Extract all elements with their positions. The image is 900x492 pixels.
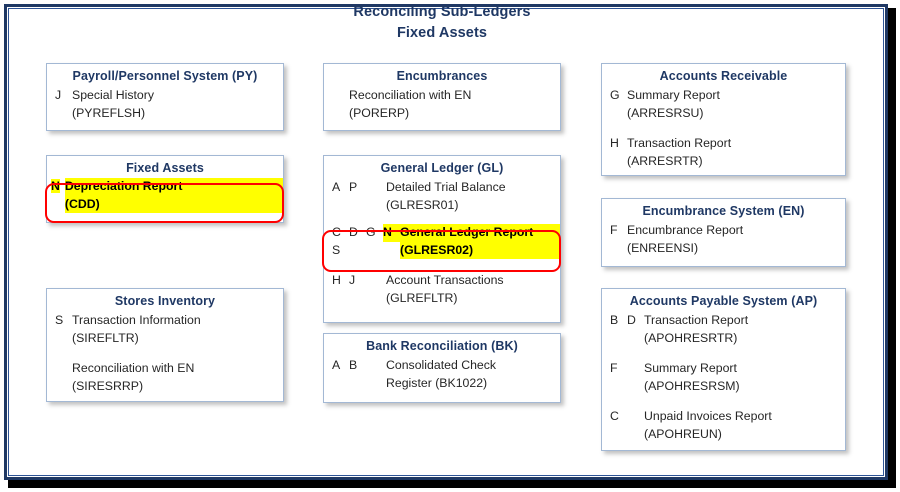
row-label-line1: Transaction Information <box>72 312 279 330</box>
code-letter-highlighted: N <box>51 179 60 193</box>
row-label-line1: Encumbrance Report <box>627 222 841 240</box>
table-row[interactable]: Reconciliation with EN (SIRESRRP) <box>47 359 283 396</box>
code-letter: B <box>610 312 627 330</box>
code-letter: D <box>349 224 366 242</box>
box-stores-inventory[interactable]: Stores Inventory S Transaction Informati… <box>46 288 284 402</box>
row-label: Detailed Trial Balance (GLRESR01) <box>386 179 556 214</box>
row-label-line1: Special History <box>72 87 279 105</box>
row-label-line2: (APOHRESRSM) <box>644 378 841 396</box>
table-row[interactable]: BD Transaction Report (APOHRESRTR) <box>602 311 845 348</box>
row-codes <box>47 360 72 378</box>
box-payroll-personnel-system[interactable]: Payroll/Personnel System (PY) J Special … <box>46 63 284 131</box>
code-letter: J <box>55 87 72 105</box>
box-header-payroll: Payroll/Personnel System (PY) <box>47 64 283 86</box>
row-codes: G <box>602 87 627 105</box>
row-label-line1: General Ledger Report <box>400 224 560 242</box>
row-label-line2: Register (BK1022) <box>386 375 556 393</box>
code-letter: B <box>349 357 366 375</box>
code-letter: G <box>366 224 383 242</box>
row-label-line1: Reconciliation with EN <box>72 360 279 378</box>
row-label-line2: (GLREFLTR) <box>386 290 556 308</box>
box-body-fixed-assets: N Depreciation Report (CDD) <box>47 178 283 213</box>
row-codes: C <box>602 408 644 426</box>
row-label-line2: (ENREENSI) <box>627 240 841 258</box>
table-row[interactable]: S Transaction Information (SIREFLTR) <box>47 311 283 348</box>
row-codes: S <box>47 312 72 330</box>
frame-shadow-right <box>888 8 896 488</box>
row-label-line1: Transaction Report <box>644 312 841 330</box>
box-accounts-payable-system[interactable]: Accounts Payable System (AP) BD Transact… <box>601 288 846 451</box>
box-header-accounts-receivable: Accounts Receivable <box>602 64 845 86</box>
box-body-payroll: J Special History (PYREFLSH) <box>47 86 283 130</box>
row-label: Encumbrance Report (ENREENSI) <box>627 222 841 257</box>
row-codes: HJ <box>324 272 386 290</box>
row-label: Reconciliation with EN (SIRESRRP) <box>72 360 279 395</box>
box-encumbrances[interactable]: Encumbrances Reconciliation with EN (POR… <box>323 63 561 131</box>
code-letter: S <box>55 312 72 330</box>
diagram-canvas: Reconciling Sub-Ledgers Fixed Assets Pay… <box>0 0 900 492</box>
row-label: General Ledger Report (GLRESR02) <box>400 224 560 259</box>
row-label: Transaction Report (APOHRESRTR) <box>644 312 841 347</box>
row-label-line2: (APOHREUN) <box>644 426 841 444</box>
box-header-encumbrances: Encumbrances <box>324 64 560 86</box>
row-codes: AB <box>324 357 386 375</box>
code-letter-highlighted: N <box>383 224 400 242</box>
row-codes: J <box>47 87 72 105</box>
code-letter: C <box>332 224 349 242</box>
row-codes: AP <box>324 179 386 197</box>
table-row[interactable]: AP Detailed Trial Balance (GLRESR01) <box>324 178 560 215</box>
row-label: Special History (PYREFLSH) <box>72 87 279 122</box>
row-label-line2: (APOHRESRTR) <box>644 330 841 348</box>
table-row[interactable]: HJ Account Transactions (GLREFLTR) <box>324 271 560 308</box>
row-label: Transaction Information (SIREFLTR) <box>72 312 279 347</box>
row-label: Summary Report (APOHRESRSM) <box>644 360 841 395</box>
box-header-fixed-assets: Fixed Assets <box>47 156 283 178</box>
box-header-bank-reconciliation: Bank Reconciliation (BK) <box>324 334 560 356</box>
table-row[interactable]: G Summary Report (ARRESRSU) <box>602 86 845 123</box>
table-row-highlighted[interactable]: N Depreciation Report (CDD) <box>47 178 283 213</box>
diagram-title: Reconciling Sub-Ledgers Fixed Assets <box>0 2 884 44</box>
box-header-encumbrance-system: Encumbrance System (EN) <box>602 199 845 221</box>
table-row[interactable]: AB Consolidated Check Register (BK1022) <box>324 356 560 393</box>
code-letter: P <box>349 179 366 197</box>
row-codes: F <box>602 222 627 240</box>
table-row-highlighted[interactable]: CDGNS General Ledger Report (GLRESR02) <box>324 224 560 259</box>
row-label-line2: (SIRESRRP) <box>72 378 279 396</box>
row-label-line1: Reconciliation with EN <box>349 87 556 105</box>
table-row[interactable]: F Summary Report (APOHRESRSM) <box>602 359 845 396</box>
code-letter: S <box>332 242 349 260</box>
row-label-line1: Transaction Report <box>627 135 841 153</box>
title-line-2: Fixed Assets <box>0 23 884 44</box>
code-letter: A <box>332 357 349 375</box>
box-general-ledger[interactable]: General Ledger (GL) AP Detailed Trial Ba… <box>323 155 561 323</box>
row-codes: BD <box>602 312 644 330</box>
row-label-line1: Consolidated Check <box>386 357 556 375</box>
code-letter: D <box>627 312 644 330</box>
row-label-line1: Detailed Trial Balance <box>386 179 556 197</box>
table-row[interactable]: Reconciliation with EN (PORERP) <box>324 86 560 123</box>
row-codes: H <box>602 135 627 153</box>
row-label: Summary Report (ARRESRSU) <box>627 87 841 122</box>
row-codes: N <box>47 178 65 196</box>
table-row[interactable]: C Unpaid Invoices Report (APOHREUN) <box>602 407 845 444</box>
code-letter: J <box>349 272 366 290</box>
row-label: Reconciliation with EN (PORERP) <box>349 87 556 122</box>
frame-shadow-bottom <box>8 480 896 488</box>
row-label-line2: (ARRESRSU) <box>627 105 841 123</box>
box-header-general-ledger: General Ledger (GL) <box>324 156 560 178</box>
row-label-line1: Account Transactions <box>386 272 556 290</box>
code-letter: H <box>332 272 349 290</box>
box-accounts-receivable[interactable]: Accounts Receivable G Summary Report (AR… <box>601 63 846 176</box>
code-letter: C <box>610 408 627 426</box>
row-label-line1: Depreciation Report <box>65 178 283 196</box>
box-header-stores-inventory: Stores Inventory <box>47 289 283 311</box>
code-letter: H <box>610 135 627 153</box>
code-letter: F <box>610 360 627 378</box>
row-label-line2: (GLRESR01) <box>386 197 556 215</box>
box-body-encumbrance-system: F Encumbrance Report (ENREENSI) <box>602 221 845 265</box>
box-encumbrance-system[interactable]: Encumbrance System (EN) F Encumbrance Re… <box>601 198 846 267</box>
row-label-line2: (SIREFLTR) <box>72 330 279 348</box>
row-codes: F <box>602 360 644 378</box>
box-body-stores-inventory: S Transaction Information (SIREFLTR) Rec… <box>47 311 283 403</box>
code-letter: F <box>610 222 627 240</box>
row-codes: CDGNS <box>324 224 400 259</box>
box-body-accounts-payable-system: BD Transaction Report (APOHRESRTR) F Sum… <box>602 311 845 451</box>
box-fixed-assets[interactable]: Fixed Assets N Depreciation Report (CDD) <box>46 155 284 223</box>
row-codes <box>324 87 349 105</box>
box-body-bank-reconciliation: AB Consolidated Check Register (BK1022) <box>324 356 560 400</box>
box-body-encumbrances: Reconciliation with EN (PORERP) <box>324 86 560 130</box>
row-label-line1: Summary Report <box>644 360 841 378</box>
row-label-line2: (PYREFLSH) <box>72 105 279 123</box>
row-label-line1: Summary Report <box>627 87 841 105</box>
row-label: Consolidated Check Register (BK1022) <box>386 357 556 392</box>
code-letter: A <box>332 179 349 197</box>
row-label: Account Transactions (GLREFLTR) <box>386 272 556 307</box>
code-letter: G <box>610 87 627 105</box>
table-row[interactable]: F Encumbrance Report (ENREENSI) <box>602 221 845 258</box>
row-label-line2: (CDD) <box>65 196 283 214</box>
title-line-1: Reconciling Sub-Ledgers <box>0 2 884 23</box>
table-row[interactable]: J Special History (PYREFLSH) <box>47 86 283 123</box>
row-label-line2: (PORERP) <box>349 105 556 123</box>
row-label-line2: (GLRESR02) <box>400 242 560 260</box>
row-label-line1: Unpaid Invoices Report <box>644 408 841 426</box>
row-label: Transaction Report (ARRESRTR) <box>627 135 841 170</box>
box-bank-reconciliation[interactable]: Bank Reconciliation (BK) AB Consolidated… <box>323 333 561 403</box>
box-body-general-ledger: AP Detailed Trial Balance (GLRESR01) CDG… <box>324 178 560 315</box>
row-label: Unpaid Invoices Report (APOHREUN) <box>644 408 841 443</box>
row-label-line2: (ARRESRTR) <box>627 153 841 171</box>
box-body-accounts-receivable: G Summary Report (ARRESRSU) H Transactio… <box>602 86 845 178</box>
row-label: Depreciation Report (CDD) <box>65 178 283 213</box>
box-header-accounts-payable-system: Accounts Payable System (AP) <box>602 289 845 311</box>
table-row[interactable]: H Transaction Report (ARRESRTR) <box>602 134 845 171</box>
